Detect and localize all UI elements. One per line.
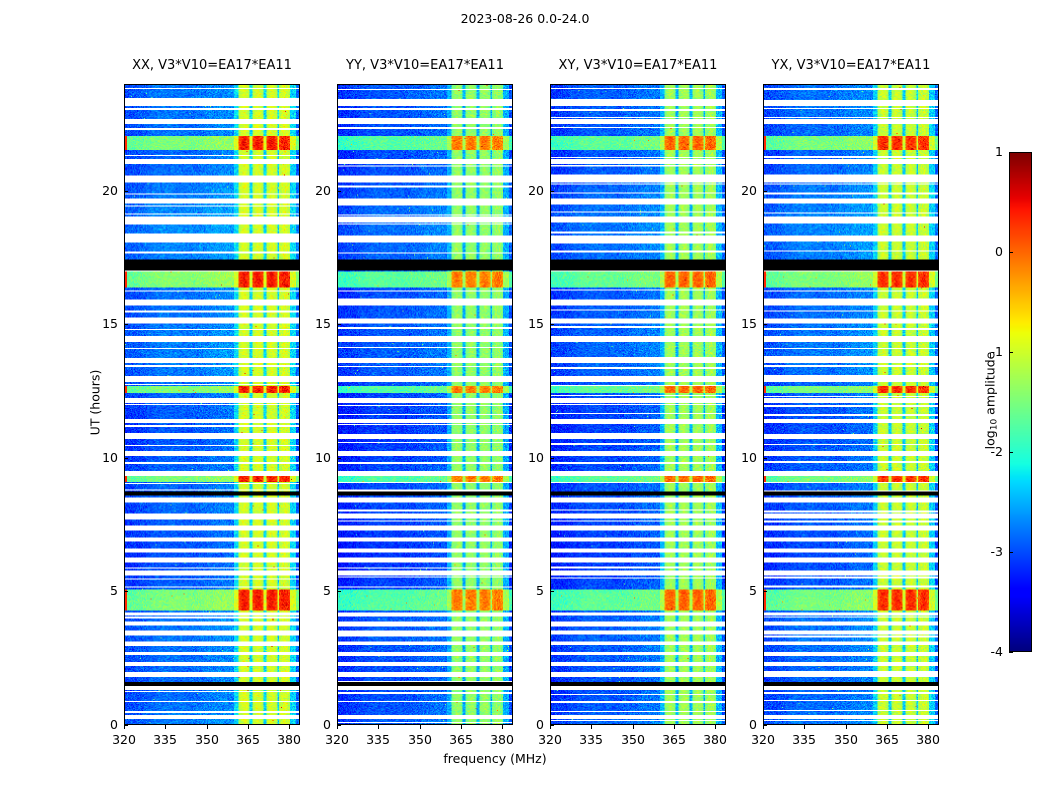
y-tick-mark [337,458,341,459]
colorbar [1009,152,1032,652]
x-tick-mark [378,725,379,729]
spectrum-image-yx [764,85,938,724]
x-tick-label: 380 [690,732,740,747]
y-tick-label: 10 [289,450,331,465]
x-tick-label: 380 [264,732,314,747]
y-tick-label: 0 [715,717,757,732]
colorbar-gradient [1010,153,1031,651]
x-tick-mark [591,725,592,729]
y-tick-mark [763,324,767,325]
x-tick-mark [887,725,888,729]
x-tick-mark [420,725,421,729]
y-axis-label: UT (hours) [88,342,103,462]
y-tick-mark [124,458,128,459]
y-tick-label: 5 [289,583,331,598]
x-tick-mark [207,725,208,729]
colorbar-tick-label: -4 [965,644,1003,659]
dynamic-spectrum-panel-yy[interactable] [337,84,513,725]
y-tick-mark [550,191,554,192]
x-axis-label: frequency (MHz) [0,751,990,766]
colorbar-label-subscript: 10 [989,419,999,430]
colorbar-tick-label: -3 [965,544,1003,559]
figure-suptitle: 2023-08-26 0.0-24.0 [0,11,1050,26]
x-tick-mark [461,725,462,729]
colorbar-tick-mark [1009,352,1013,353]
y-tick-label: 0 [76,717,118,732]
colorbar-label: log10 amplitude [983,300,1000,500]
y-tick-label: 0 [289,717,331,732]
y-tick-label: 5 [715,583,757,598]
x-tick-mark [804,725,805,729]
y-tick-mark [763,458,767,459]
x-tick-mark [763,725,764,729]
y-tick-label: 15 [289,316,331,331]
x-tick-mark [633,725,634,729]
x-tick-label: 380 [903,732,953,747]
colorbar-label-prefix: log [983,430,998,449]
x-tick-mark [165,725,166,729]
y-tick-mark [550,458,554,459]
y-tick-mark [763,191,767,192]
x-tick-mark [337,725,338,729]
y-tick-label: 20 [76,183,118,198]
dynamic-spectrum-panel-xx[interactable] [124,84,300,725]
y-tick-mark [124,324,128,325]
x-tick-mark [928,725,929,729]
colorbar-tick-mark [1009,552,1013,553]
y-tick-label: 15 [76,316,118,331]
figure-canvas: 2023-08-26 0.0-24.0 XX, V3*V10=EA17*EA11… [0,0,1050,800]
dynamic-spectrum-panel-yx[interactable] [763,84,939,725]
spectrum-image-yy [338,85,512,724]
y-tick-mark [124,591,128,592]
y-tick-label: 15 [502,316,544,331]
panel-title-yx: YX, V3*V10=EA17*EA11 [703,58,999,73]
spectrum-image-xx [125,85,299,724]
colorbar-tick-label: 1 [965,144,1003,159]
y-tick-mark [337,591,341,592]
y-tick-mark [337,324,341,325]
x-tick-mark [124,725,125,729]
x-tick-mark [846,725,847,729]
y-tick-mark [550,591,554,592]
x-tick-mark [248,725,249,729]
y-tick-mark [550,324,554,325]
colorbar-tick-mark [1009,452,1013,453]
dynamic-spectrum-panel-xy[interactable] [550,84,726,725]
y-tick-mark [124,191,128,192]
colorbar-label-suffix: amplitude [983,352,998,419]
x-tick-mark [550,725,551,729]
y-tick-label: 0 [502,717,544,732]
x-tick-label: 380 [477,732,527,747]
y-tick-label: 20 [289,183,331,198]
x-tick-mark [674,725,675,729]
colorbar-tick-mark [1009,252,1013,253]
colorbar-tick-mark [1009,652,1013,653]
colorbar-tick-mark [1009,152,1013,153]
y-tick-mark [763,591,767,592]
y-tick-label: 10 [502,450,544,465]
y-tick-label: 20 [715,183,757,198]
y-tick-label: 10 [715,450,757,465]
y-tick-label: 5 [502,583,544,598]
y-tick-label: 20 [502,183,544,198]
y-tick-label: 15 [715,316,757,331]
y-tick-label: 5 [76,583,118,598]
y-tick-mark [337,191,341,192]
spectrum-image-xy [551,85,725,724]
colorbar-tick-label: 0 [965,244,1003,259]
